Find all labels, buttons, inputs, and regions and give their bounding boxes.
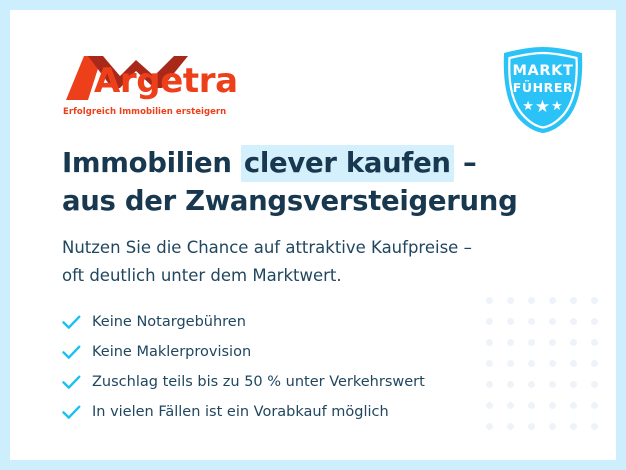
logo-tagline: Erfolgreich Immobilien ersteigern bbox=[63, 107, 226, 117]
list-item-label: Keine Notargebühren bbox=[92, 315, 246, 330]
check-icon bbox=[62, 405, 92, 420]
decorative-dot bbox=[549, 360, 556, 367]
decorative-dot bbox=[591, 360, 598, 367]
subtitle-line-2: oft deutlich unter dem Marktwert. bbox=[62, 262, 562, 290]
list-item: In vielen Fällen ist ein Vorabkauf mögli… bbox=[62, 397, 532, 427]
list-item: Keine Maklerprovision bbox=[62, 337, 532, 367]
star-icon-2: ★ bbox=[535, 97, 551, 116]
headline-text-before: Immobilien bbox=[62, 147, 241, 179]
decorative-dot bbox=[549, 318, 556, 325]
star-icon-3: ★ bbox=[551, 98, 564, 113]
check-icon bbox=[62, 375, 92, 390]
decorative-dot bbox=[591, 402, 598, 409]
list-item-label: Zuschlag teils bis zu 50 % unter Verkehr… bbox=[92, 375, 425, 390]
markt-fuehrer-badge: MARKT FÜHRER ★★★ bbox=[496, 46, 590, 134]
decorative-dot bbox=[570, 381, 577, 388]
list-item: Keine Notargebühren bbox=[62, 307, 532, 337]
page-title: Immobilien clever kaufen – aus der Zwang… bbox=[62, 144, 562, 220]
decorative-dot bbox=[549, 297, 556, 304]
banner-card: Argetra Erfolgreich Immobilien ersteiger… bbox=[10, 10, 616, 460]
decorative-dot bbox=[591, 423, 598, 430]
decorative-dot bbox=[486, 297, 493, 304]
headline-line-2: aus der Zwangsversteigerung bbox=[62, 182, 562, 220]
decorative-dot bbox=[570, 339, 577, 346]
decorative-dot bbox=[570, 402, 577, 409]
badge-line-1: MARKT bbox=[496, 63, 590, 79]
decorative-dot bbox=[570, 297, 577, 304]
decorative-dot bbox=[591, 381, 598, 388]
decorative-dot bbox=[549, 381, 556, 388]
decorative-dot bbox=[591, 339, 598, 346]
logo-wordmark: Argetra bbox=[94, 64, 238, 98]
subtitle-line-1: Nutzen Sie die Chance auf attraktive Kau… bbox=[62, 234, 562, 262]
badge-stars: ★★★ bbox=[496, 98, 590, 115]
headline-line-1: Immobilien clever kaufen – bbox=[62, 144, 562, 182]
decorative-dot bbox=[549, 339, 556, 346]
list-item-label: Keine Maklerprovision bbox=[92, 345, 251, 360]
headline-text-after: – bbox=[454, 147, 477, 179]
list-item-label: In vielen Fällen ist ein Vorabkauf mögli… bbox=[92, 405, 389, 420]
decorative-dot bbox=[570, 423, 577, 430]
badge-line-2: FÜHRER bbox=[496, 80, 590, 95]
page-subtitle: Nutzen Sie die Chance auf attraktive Kau… bbox=[62, 234, 562, 290]
decorative-dot bbox=[549, 402, 556, 409]
headline-highlight: clever kaufen bbox=[241, 145, 454, 182]
decorative-dot bbox=[591, 318, 598, 325]
star-icon-1: ★ bbox=[522, 98, 535, 113]
decorative-dot bbox=[591, 297, 598, 304]
list-item: Zuschlag teils bis zu 50 % unter Verkehr… bbox=[62, 367, 532, 397]
decorative-dot bbox=[549, 423, 556, 430]
decorative-dot bbox=[570, 318, 577, 325]
decorative-dot bbox=[528, 297, 535, 304]
check-icon bbox=[62, 315, 92, 330]
decorative-dot bbox=[570, 360, 577, 367]
decorative-dot bbox=[507, 297, 514, 304]
check-icon bbox=[62, 345, 92, 360]
benefit-list: Keine NotargebührenKeine Maklerprovision… bbox=[62, 307, 532, 427]
argetra-logo[interactable]: Argetra Erfolgreich Immobilien ersteiger… bbox=[62, 54, 262, 116]
promo-banner: Argetra Erfolgreich Immobilien ersteiger… bbox=[0, 0, 626, 470]
